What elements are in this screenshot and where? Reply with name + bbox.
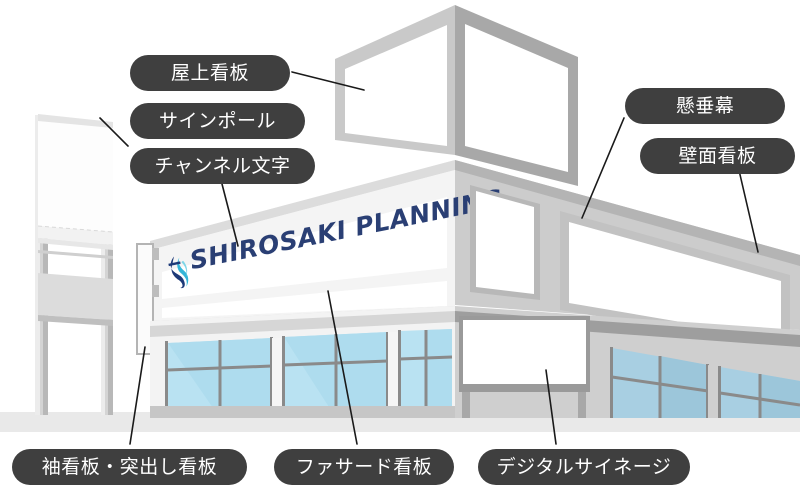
rooftop-sign-frame-left bbox=[335, 5, 455, 155]
label-digital-signage-text: デジタルサイネージ bbox=[497, 458, 672, 477]
label-banner-text: 懸垂幕 bbox=[676, 97, 735, 116]
label-banner[interactable]: 懸垂幕 bbox=[625, 88, 785, 124]
label-digital-signage[interactable]: デジタルサイネージ bbox=[478, 449, 690, 485]
building-illustration: SHIROSAKI PLANNING bbox=[0, 0, 800, 493]
label-projecting-sign-text: 袖看板・突出し看板 bbox=[42, 458, 218, 477]
label-rooftop-sign[interactable]: 屋上看板 bbox=[130, 55, 290, 91]
rooftop-sign-frame-right bbox=[455, 5, 578, 186]
label-wall-sign[interactable]: 壁面看板 bbox=[640, 138, 795, 174]
label-sign-pole[interactable]: サインポール bbox=[130, 103, 305, 139]
sign-pole-structure bbox=[35, 114, 113, 415]
sign-pole-upper-panel bbox=[38, 114, 113, 232]
storefront-glazing bbox=[150, 329, 455, 418]
label-facade-sign-text: ファサード看板 bbox=[296, 458, 433, 477]
label-wall-sign-text: 壁面看板 bbox=[678, 147, 756, 166]
label-sign-pole-text: サインポール bbox=[159, 112, 276, 131]
signage-diagram: SHIROSAKI PLANNING bbox=[0, 0, 800, 493]
label-rooftop-sign-text: 屋上看板 bbox=[171, 64, 249, 83]
label-projecting-sign[interactable]: 袖看板・突出し看板 bbox=[12, 449, 247, 485]
banner-panel bbox=[470, 185, 540, 300]
sign-pole-lower-panel bbox=[38, 273, 113, 320]
label-channel-letters-text: チャンネル文字 bbox=[155, 157, 291, 176]
label-channel-letters[interactable]: チャンネル文字 bbox=[130, 148, 315, 184]
label-facade-sign[interactable]: ファサード看板 bbox=[274, 449, 454, 485]
